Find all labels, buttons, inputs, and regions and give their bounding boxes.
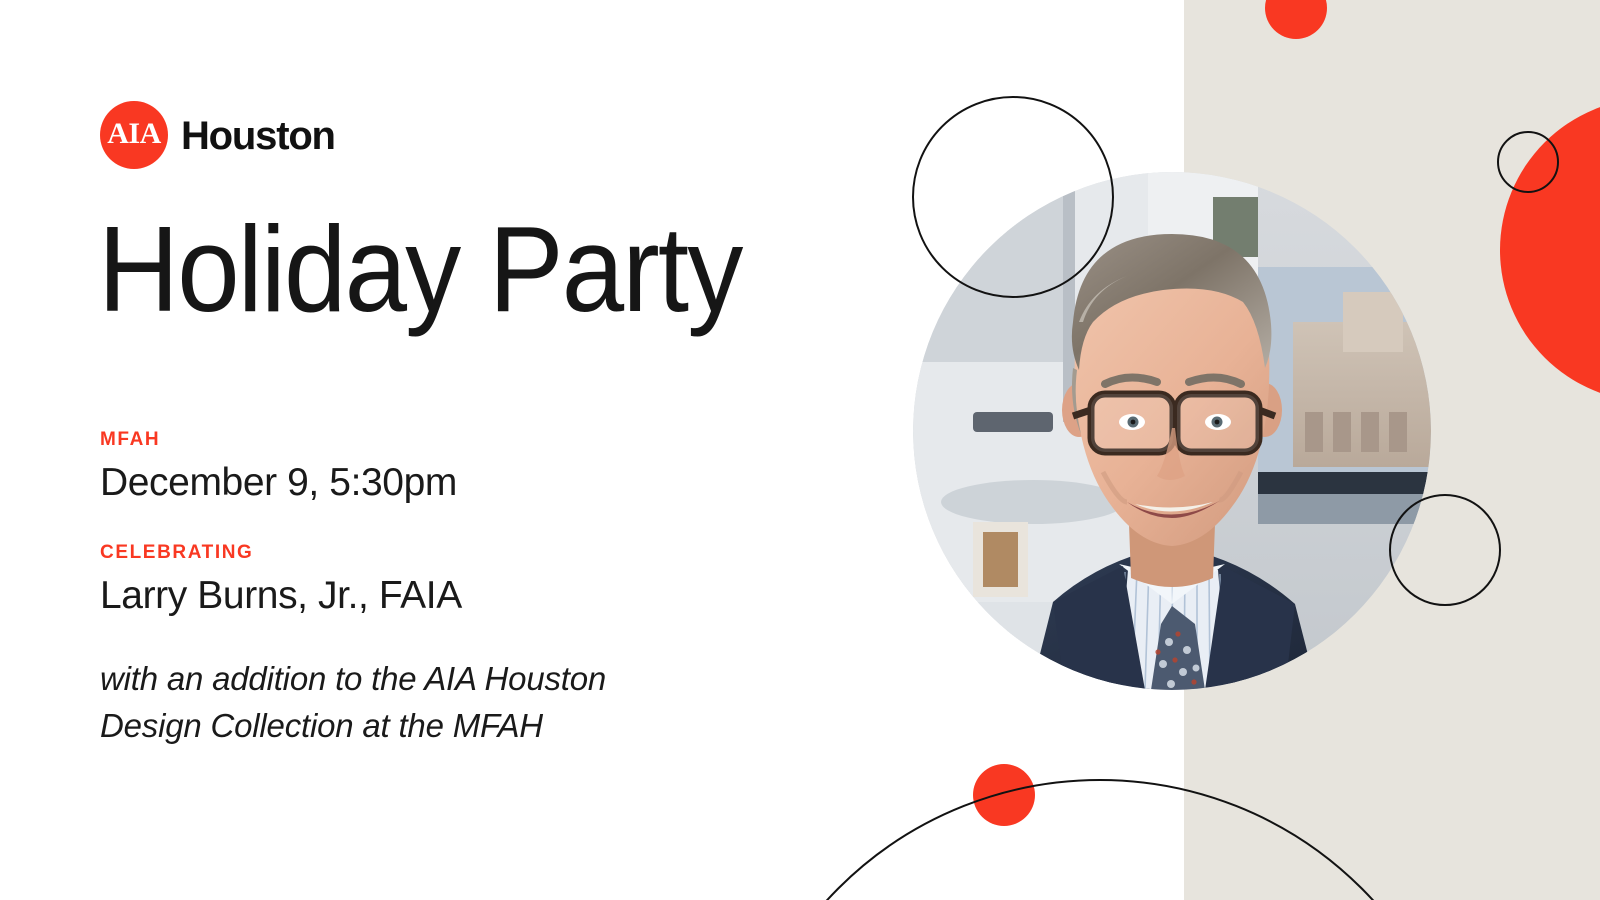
detail-label-celebrating: CELEBRATING (100, 543, 800, 562)
detail-label-venue: MFAH (100, 430, 800, 449)
event-tagline: with an addition to the AIA Houston Desi… (100, 656, 800, 750)
detail-block-honoree: CELEBRATING Larry Burns, Jr., FAIA (100, 543, 800, 618)
portrait-photo (913, 172, 1431, 690)
detail-block-venue: MFAH December 9, 5:30pm (100, 430, 800, 505)
red-dot-bottom (973, 764, 1035, 826)
aia-houston-logo[interactable]: AIA Houston (100, 100, 335, 170)
event-details: MFAH December 9, 5:30pm CELEBRATING Larr… (100, 430, 800, 750)
detail-value-datetime: December 9, 5:30pm (100, 462, 800, 505)
tagline-line-1: with an addition to the AIA Houston (100, 656, 800, 703)
aia-roundel-icon: AIA (100, 101, 168, 169)
aia-mark-text: AIA (107, 119, 161, 149)
tagline-line-2: Design Collection at the MFAH (100, 703, 800, 750)
houston-wordmark: Houston (181, 116, 335, 156)
poster-canvas: AIA Houston Holiday Party MFAH December … (0, 0, 1600, 900)
page-title: Holiday Party (98, 205, 742, 333)
detail-value-honoree: Larry Burns, Jr., FAIA (100, 575, 800, 618)
